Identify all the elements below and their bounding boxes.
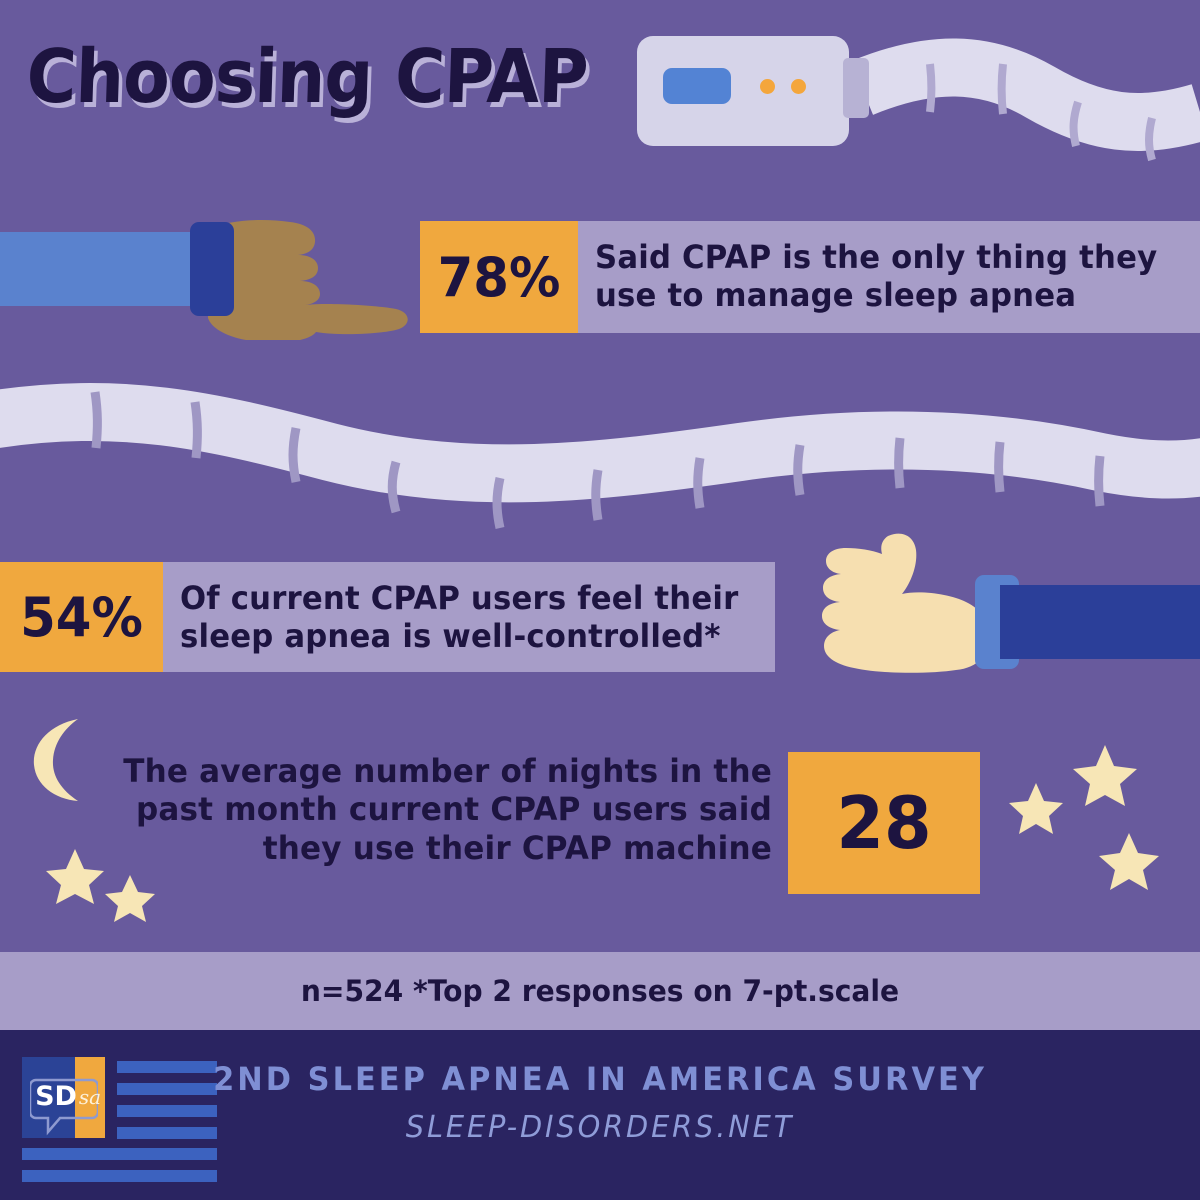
star-icon: [104, 872, 156, 924]
cpap-indicator-light-icon: [760, 79, 775, 94]
pointing-hand-sleeve: [0, 232, 200, 306]
stat-54-value: 54%: [4, 562, 159, 672]
page-title: Choosing CPAP: [25, 34, 589, 120]
stat-78-value: 78%: [424, 221, 574, 333]
infographic-canvas: Choosing CPAP 78% Said CPAP is the only …: [0, 0, 1200, 1200]
thumbs-up-hand-sleeve: [1000, 585, 1200, 659]
footer-url[interactable]: SLEEP-DISORDERS.NET: [24, 1110, 1176, 1145]
stat-54-text: Of current CPAP users feel their sleep a…: [180, 580, 751, 656]
footnote-text: n=524 *Top 2 responses on 7-pt.scale: [18, 952, 1182, 1030]
star-icon: [1098, 830, 1160, 892]
cpap-machine-hose-port: [843, 58, 869, 118]
crescent-moon-icon: [26, 715, 96, 805]
stat-28-text: The average number of nights in the past…: [112, 752, 772, 867]
star-icon: [1008, 780, 1064, 836]
stat-28-value: 28: [793, 752, 975, 894]
star-icon: [44, 846, 106, 906]
logo-stripe: [22, 1148, 217, 1160]
pointing-hand-cuff: [190, 222, 234, 316]
star-icon: [1072, 742, 1138, 808]
cpap-indicator-light-icon: [791, 79, 806, 94]
footer-survey-title: 2ND SLEEP APNEA IN AMERICA SURVEY: [30, 1060, 1170, 1098]
logo-stripe: [22, 1170, 217, 1182]
stat-78-text: Said CPAP is the only thing they use to …: [595, 239, 1171, 315]
cpap-machine-screen: [663, 68, 731, 104]
